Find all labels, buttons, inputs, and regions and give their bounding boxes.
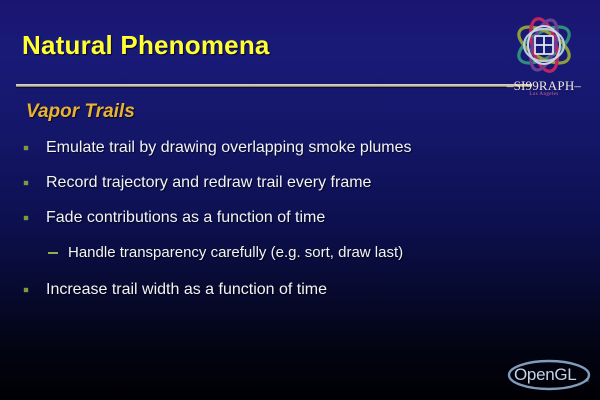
siggraph-rings-icon xyxy=(494,12,594,82)
bullet-list: Emulate trail by drawing overlapping smo… xyxy=(24,137,564,314)
sub-list-item: Handle transparency carefully (e.g. sort… xyxy=(24,242,564,279)
list-item: Record trajectory and redraw trail every… xyxy=(24,172,564,207)
list-item-label: Fade contributions as a function of time xyxy=(46,207,325,229)
list-item-label: Record trajectory and redraw trail every… xyxy=(46,172,371,194)
square-bullet-icon xyxy=(24,172,46,194)
list-item-label: Increase trail width as a function of ti… xyxy=(46,279,327,301)
opengl-trademark: ® xyxy=(585,378,589,384)
square-bullet-icon xyxy=(24,137,46,159)
siggraph-city-label: Los Angeles xyxy=(494,92,594,97)
presentation-slide: Natural Phenomena Vapor Trails Emulate t… xyxy=(0,0,600,400)
slide-subtitle: Vapor Trails xyxy=(26,101,135,123)
opengl-logo: OpenGL ® xyxy=(506,358,592,392)
siggraph-lead-dash: – xyxy=(507,78,514,93)
list-item-label: Emulate trail by drawing overlapping smo… xyxy=(46,137,412,159)
list-item: Emulate trail by drawing overlapping smo… xyxy=(24,137,564,172)
siggraph-trail-dash: – xyxy=(574,78,581,93)
square-bullet-icon xyxy=(24,279,46,301)
list-item: Fade contributions as a function of time xyxy=(24,207,564,242)
siggraph-logo: –SI99RAPH– Los Angeles xyxy=(494,12,594,104)
sub-list-item-label: Handle transparency carefully (e.g. sort… xyxy=(68,242,403,264)
page-title: Natural Phenomena xyxy=(22,30,270,61)
opengl-wordmark: OpenGL xyxy=(514,365,576,385)
title-divider xyxy=(16,84,532,87)
dash-bullet-icon xyxy=(48,242,68,264)
siggraph-wordmark-text: SI99RAPH xyxy=(514,78,575,93)
list-item: Increase trail width as a function of ti… xyxy=(24,279,564,314)
square-bullet-icon xyxy=(24,207,46,229)
